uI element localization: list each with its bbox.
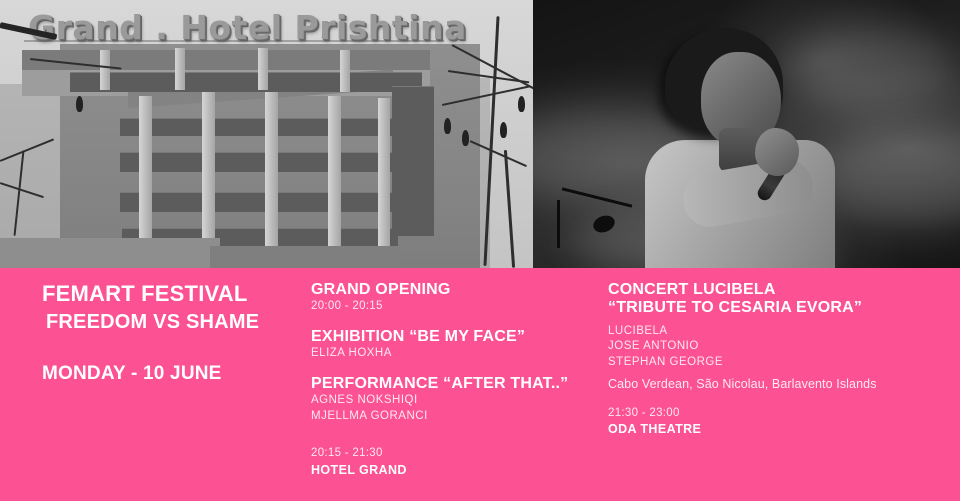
hotel-window-row [120, 192, 398, 212]
hotel-window-row [120, 152, 398, 172]
tree-leaf [462, 130, 469, 146]
hotel-window-row [70, 72, 422, 92]
festival-poster: Grand . Hotel Prishtina [0, 0, 960, 501]
hotel-sign-text: Grand . Hotel Prishtina [28, 8, 467, 47]
singer-hand [755, 128, 799, 176]
stage-smoke [783, 30, 960, 110]
event-title: PERFORMANCE “AFTER THAT..” [311, 375, 586, 393]
hotel-window-row [120, 118, 398, 136]
info-band: FEMART FESTIVAL FREEDOM VS SHAME MONDAY … [0, 268, 960, 501]
tree-leaf [76, 96, 83, 112]
concert-heading: CONCERT LUCIBELA “TRIBUTE TO CESARIA EVO… [608, 281, 918, 318]
microphone-stand [557, 200, 560, 248]
festival-title: FEMART FESTIVAL [42, 283, 292, 305]
middle-column-schedule: 20:15 - 21:30 HOTEL GRAND [311, 446, 586, 478]
hotel-front-wall [0, 238, 220, 268]
program-time: 20:15 - 21:30 [311, 446, 586, 462]
tree-leaf [518, 96, 525, 112]
program-venue: HOTEL GRAND [311, 462, 586, 478]
performer-name: LUCIBELA [608, 324, 918, 340]
spacer [311, 362, 586, 375]
hotel-front-wall [210, 246, 400, 268]
event-exhibition: EXHIBITION “BE MY FACE” ELIZA HOXHA [311, 328, 586, 362]
concert-venue: ODA THEATRE [608, 421, 918, 437]
hotel-pillar [328, 96, 341, 268]
performer-name: JOSE ANTONIO [608, 339, 918, 355]
concert-title-line-2: “TRIBUTE TO CESARIA EVORA” [608, 299, 918, 317]
concert-column: CONCERT LUCIBELA “TRIBUTE TO CESARIA EVO… [608, 268, 918, 437]
festival-column: FEMART FESTIVAL FREEDOM VS SHAME MONDAY … [42, 268, 292, 383]
event-artist: AGNES NOKSHIQI [311, 393, 586, 409]
festival-subtitle: FREEDOM VS SHAME [46, 312, 292, 332]
hotel-pillar [378, 98, 390, 268]
performer-origin: Cabo Verdean, São Nicolau, Barlavento Is… [608, 376, 918, 392]
event-title: EXHIBITION “BE MY FACE” [311, 328, 586, 346]
hotel-grand-program-column: GRAND OPENING 20:00 - 20:15 EXHIBITION “… [311, 268, 586, 478]
concert-performers: LUCIBELA JOSE ANTONIO STEPHAN GEORGE [608, 324, 918, 371]
hotel-pillar [265, 92, 278, 268]
event-performance: PERFORMANCE “AFTER THAT..” AGNES NOKSHIQ… [311, 375, 586, 424]
photo-strip: Grand . Hotel Prishtina [0, 0, 960, 268]
event-artist: MJELLMA GORANCI [311, 409, 586, 425]
performer-name: STEPHAN GEORGE [608, 355, 918, 371]
lucibela-concert-photo [533, 0, 960, 268]
grand-hotel-prishtina-photo: Grand . Hotel Prishtina [0, 0, 533, 268]
event-time: 20:00 - 20:15 [311, 299, 586, 315]
spacer [608, 393, 918, 406]
spacer [311, 424, 586, 446]
tree-leaf [500, 122, 507, 138]
event-artist: ELIZA HOXHA [311, 346, 586, 362]
hotel-window-row [392, 86, 434, 236]
concert-schedule: 21:30 - 23:00 ODA THEATRE [608, 406, 918, 438]
tree-leaf [444, 118, 451, 134]
concert-time: 21:30 - 23:00 [608, 406, 918, 422]
event-title: GRAND OPENING [311, 281, 586, 299]
spacer [311, 315, 586, 328]
event-grand-opening: GRAND OPENING 20:00 - 20:15 [311, 281, 586, 315]
concert-title-line-1: CONCERT LUCIBELA [608, 281, 918, 299]
festival-date: MONDAY - 10 JUNE [42, 364, 292, 383]
